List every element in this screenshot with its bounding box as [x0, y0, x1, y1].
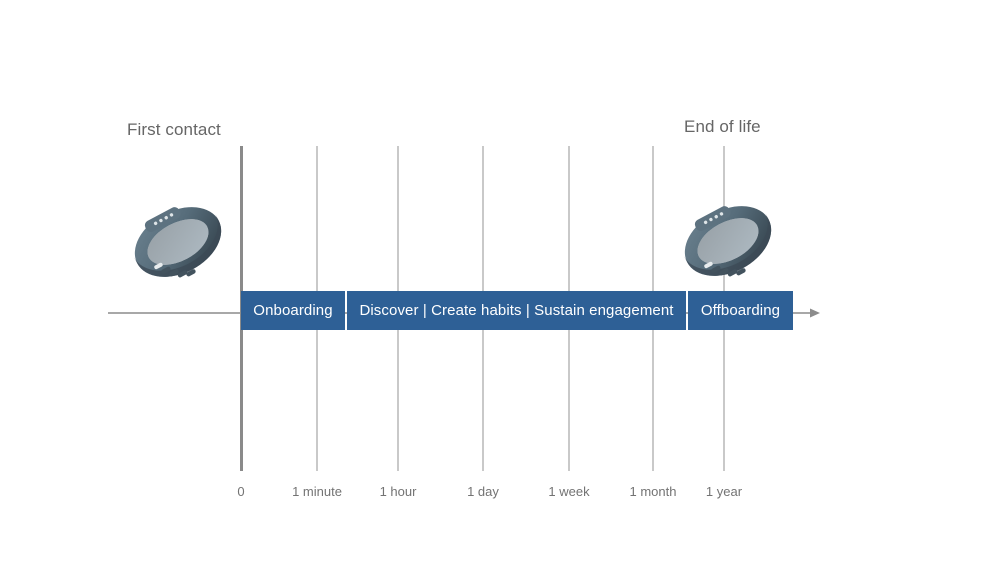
axis-tick-label-1-year: 1 year — [706, 484, 742, 500]
fitness-band-icon-first-contact — [123, 186, 233, 298]
timeline-diagram-canvas: First contact End of life — [0, 0, 1000, 563]
phase-bar-engagement[interactable]: Discover | Create habits | Sustain engag… — [347, 291, 686, 330]
axis-tick-label-1-week: 1 week — [548, 484, 589, 500]
axis-tick-label-0: 0 — [237, 484, 244, 500]
axis-tick-label-1-hour: 1 hour — [380, 484, 417, 500]
axis-tick-label-1-month: 1 month — [630, 484, 677, 500]
milestone-label-end-of-life: End of life — [684, 117, 761, 137]
milestone-label-first-contact: First contact — [127, 120, 221, 140]
fitness-band-icon-end-of-life — [673, 185, 783, 297]
phase-bar-onboarding[interactable]: Onboarding — [241, 291, 345, 330]
axis-tick-label-1-minute: 1 minute — [292, 484, 342, 500]
phase-bar-offboarding[interactable]: Offboarding — [688, 291, 793, 330]
axis-tick-label-1-day: 1 day — [467, 484, 499, 500]
